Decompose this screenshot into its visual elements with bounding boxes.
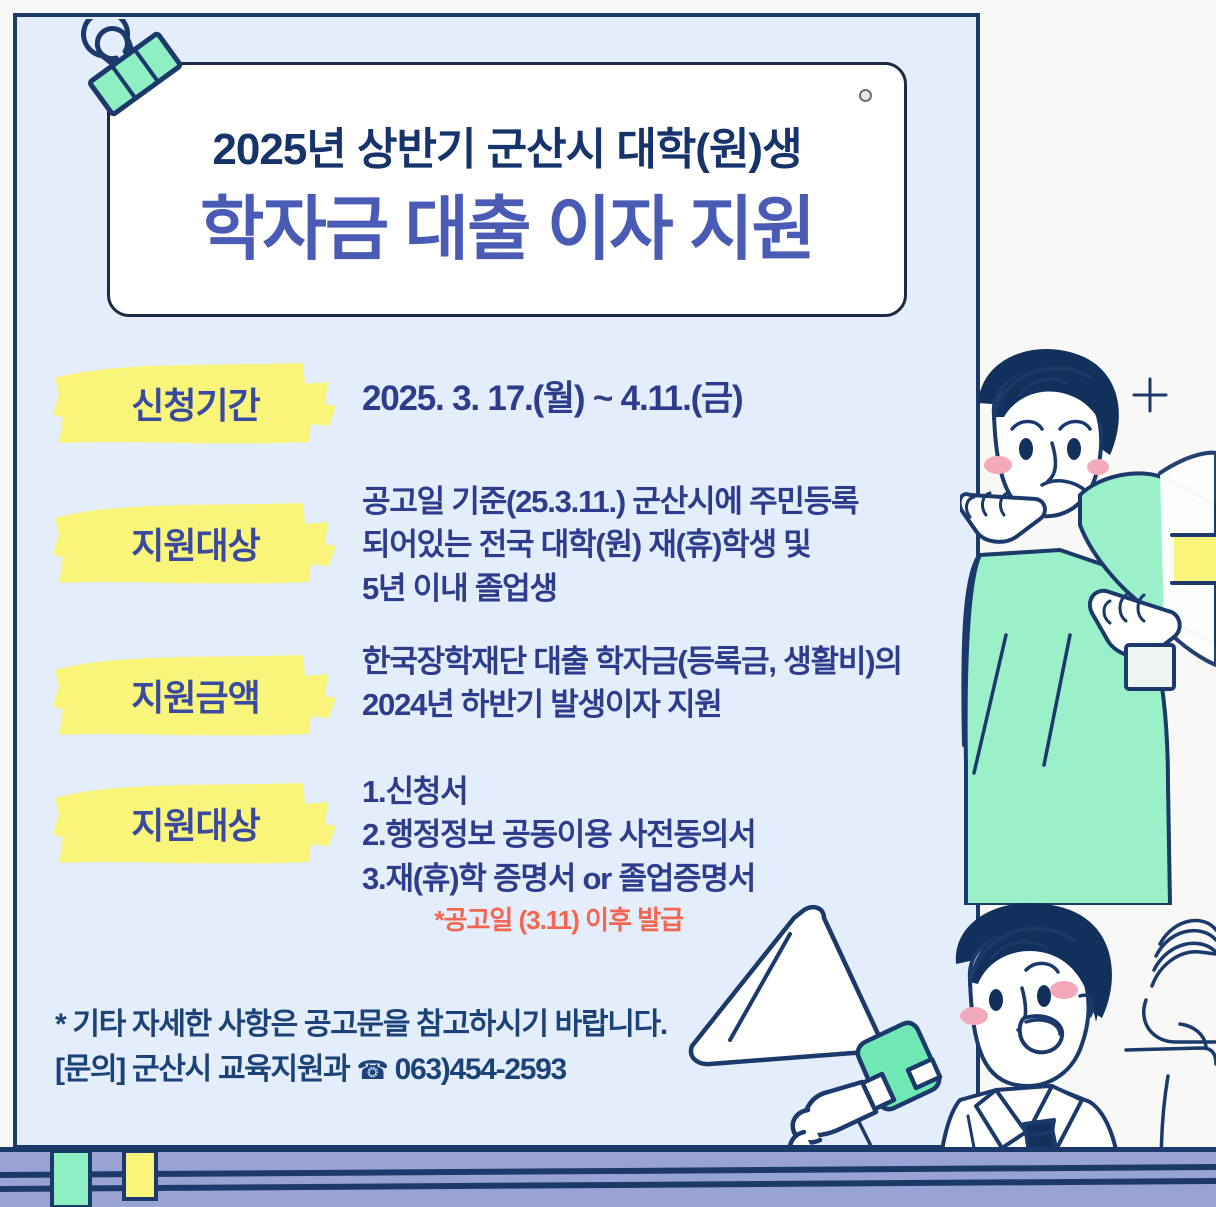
person-with-megaphone-illustration	[960, 345, 1216, 905]
row-tag-label: 신청기간	[131, 377, 259, 429]
row-value: 공고일 기준(25.3.11.) 군산시에 주민등록 되어있는 전국 대학(원)…	[362, 480, 858, 610]
punch-hole-icon	[859, 89, 872, 102]
row-tag-badge: 지원대상	[53, 500, 338, 586]
desk-bar-decoration	[0, 1147, 1216, 1207]
telephone-icon: ☎	[357, 1055, 388, 1085]
footer-line-2: [문의] 군산시 교육지원과 ☎ 063)454-2593	[55, 1047, 755, 1092]
row-tag-label: 지원대상	[131, 517, 259, 569]
row-tag-label: 지원대상	[131, 797, 259, 849]
title-card: 2025년 상반기 군산시 대학(원)생 학자금 대출 이자 지원	[107, 62, 907, 317]
footer-line-1: * 기타 자세한 사항은 공고문을 참고하시기 바랍니다.	[55, 1002, 755, 1047]
footer-notes: * 기타 자세한 사항은 공고문을 참고하시기 바랍니다. [문의] 군산시 교…	[55, 1002, 755, 1092]
footer-phone-number: 063)454-2593	[395, 1053, 566, 1086]
row-tag-badge: 지원금액	[53, 652, 338, 738]
binder-clip-icon	[72, 19, 207, 144]
poster-panel: 2025년 상반기 군산시 대학(원)생 학자금 대출 이자 지원	[13, 13, 980, 1149]
page-title-line1: 2025년 상반기 군산시 대학(원)생	[110, 113, 904, 177]
row-tag-label: 지원금액	[131, 669, 259, 721]
row-tag-badge: 신청기간	[53, 360, 338, 446]
row-value: 2025. 3. 17.(월) ~ 4.11.(금)	[362, 374, 743, 423]
page-title-line2: 학자금 대출 이자 지원	[110, 173, 904, 274]
footer-contact-label: [문의] 군산시 교육지원과	[55, 1053, 349, 1086]
poster-root: 2025년 상반기 군산시 대학(원)생 학자금 대출 이자 지원	[0, 0, 1216, 1207]
row-tag-badge: 지원대상	[53, 780, 338, 866]
row-value: 한국장학재단 대출 학자금(등록금, 생활비)의 2024년 하반기 발생이자 …	[362, 640, 902, 727]
